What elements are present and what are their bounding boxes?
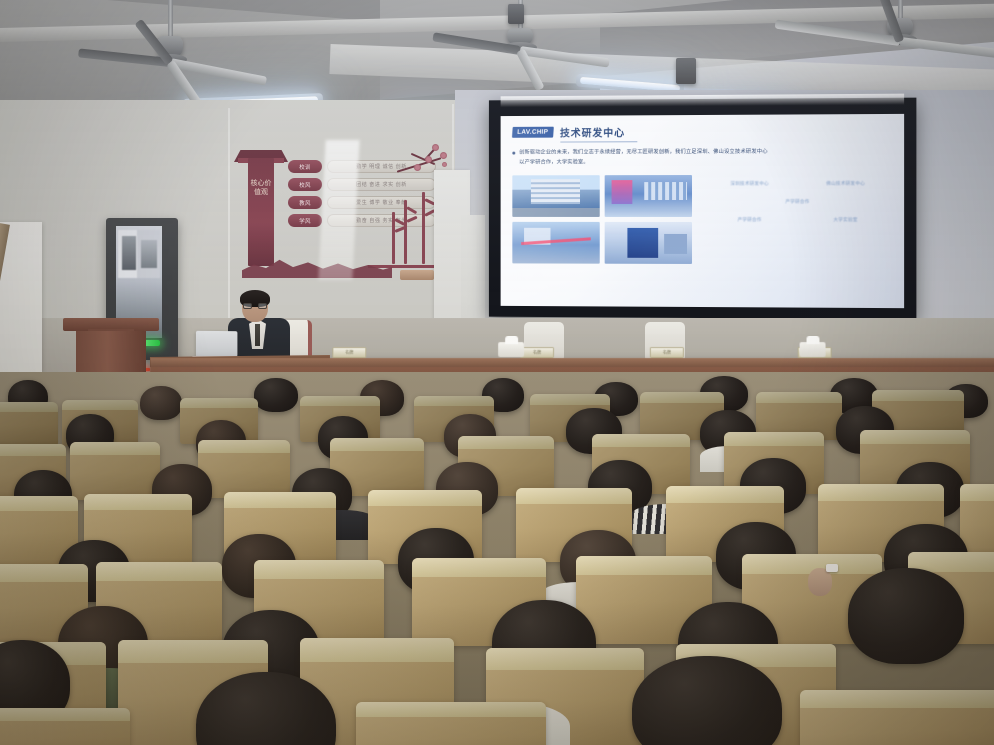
nameplate: 名牌 [520,347,554,358]
diagram-node: 产学研合作 [785,199,809,204]
glasses-icon [243,303,267,309]
auditorium-seat[interactable] [0,708,130,745]
auditorium-seat[interactable] [0,402,58,446]
presenter-tie [255,324,260,346]
laboratory-photo [512,221,599,263]
diagram-node: 深圳技术研发中心 [730,180,769,186]
auditorium-seat[interactable] [70,442,160,500]
audience-seating [0,372,994,745]
bullet-line-2: 以产学研合作，大学实验室。 [519,159,589,165]
diagram-node: 产学研合作 [738,217,762,223]
tissue-box [498,342,524,357]
lavchip-logo: LAV.CHIP [512,127,554,138]
diagram-row-center: 产学研合作 [702,198,894,204]
culture-tag: 校训 [288,160,322,173]
factory-building-photo [512,175,599,217]
slide-title: 技术研发中心 [560,124,625,139]
deco-pillar-text: 核心价值观 [250,180,272,198]
slide-bullet-text: 创新驱动企业的未来，我们立志于永续经营，无尽工匠研发创新，我们立足深圳、佛山设立… [519,148,768,168]
audience-head [254,378,298,412]
phone-icon [826,564,838,572]
ceiling-fan-left [110,0,230,80]
projection-screen[interactable]: LAV.CHIP 技术研发中心 创新驱动企业的未来，我们立志于永续经营，无尽工匠… [489,98,916,320]
test-equipment-photo [604,222,692,264]
bullet-line-1: 创新驱动企业的未来，我们立志于永续经营，无尽工匠研发创新，我们立足深圳、佛山设立… [519,149,768,156]
monitor-image [118,230,160,278]
diagram-row-top: 深圳技术研发中心 佛山技术研发中心 [702,180,894,186]
school-culture-wall: 核心价值观 校训 勤学 明理 诚信 创新 校风 团结 奋进 求实 创新 教风 爱… [236,144,448,284]
slide-header: LAV.CHIP 技术研发中心 [512,123,894,140]
slide-diagram: 深圳技术研发中心 佛山技术研发中心 产学研合作 产学研合作 大学实验室 [702,174,894,264]
fan-blade [899,37,994,60]
culture-tag: 教风 [288,196,322,209]
culture-tag: 学风 [288,214,322,227]
lecture-hall-photo: 核心价值观 校训 勤学 明理 诚信 创新 校风 团结 奋进 求实 创新 教风 爱… [0,0,994,745]
diagram-node: 佛山技术研发中心 [826,180,865,186]
tissue-box [800,342,826,357]
slide-body: 深圳技术研发中心 佛山技术研发中心 产学研合作 产学研合作 大学实验室 [512,174,894,264]
deco-pillar [248,158,274,266]
presentation-slide: LAV.CHIP 技术研发中心 创新驱动企业的未来，我们立志于永续经营，无尽工匠… [501,114,905,308]
nameplate: 名牌 [332,347,366,358]
table-lip [150,358,994,367]
nameplate: 名牌 [650,347,684,358]
ceiling-fan-right [800,0,994,96]
audience-head [848,568,964,664]
diagram-node: 大学实验室 [833,217,857,223]
diagram-row-bottom: 产学研合作 大学实验室 [702,217,894,223]
wooden-podium [63,318,159,380]
screen-surface: LAV.CHIP 技术研发中心 创新驱动企业的未来，我们立志于永续经营，无尽工匠… [501,114,905,308]
ceiling-speaker-icon [676,58,696,84]
auditorium-seat[interactable] [356,702,546,745]
audience-head [140,386,182,420]
laptop-lid [196,331,237,357]
culture-tag: 校风 [288,178,322,191]
bullet-dot-icon [512,152,515,155]
fan-rod [168,0,173,38]
slide-bullet: 创新驱动企业的未来，我们立志于永续经营，无尽工匠研发创新，我们立足深圳、佛山设立… [512,147,894,168]
slide-photo-grid [512,175,692,264]
audience-hand [808,568,832,596]
auditorium-seat[interactable] [800,690,994,745]
ceiling-speaker-icon [508,4,524,24]
office-tower-photo [604,175,692,217]
deco-plaque [400,270,434,280]
